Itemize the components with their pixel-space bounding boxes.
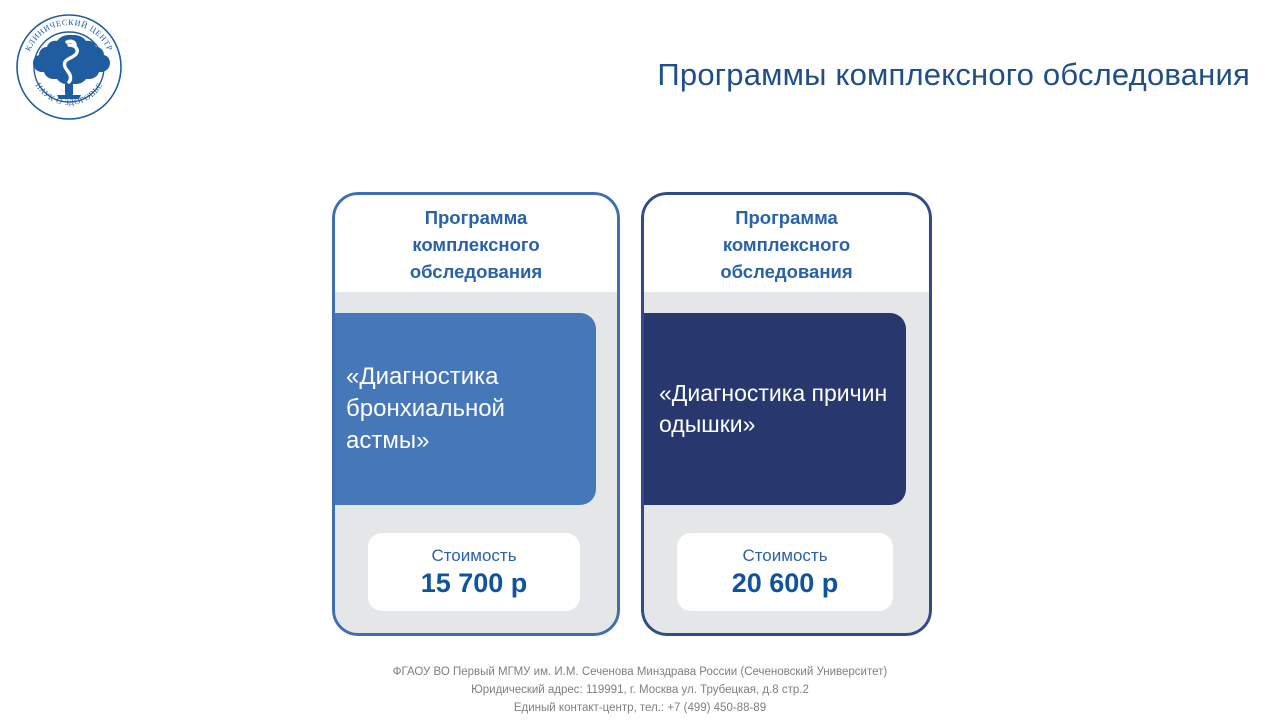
program-name-text: «Диагностика бронхиальной астмы» (346, 361, 582, 457)
price-box: Стоимость 15 700 р (368, 533, 580, 611)
price-label: Стоимость (742, 547, 827, 564)
footer: ФГАОУ ВО Первый МГМУ им. И.М. Сеченова М… (0, 664, 1280, 717)
card-body: «Диагностика причин одышки» Стоимость 20… (641, 292, 932, 636)
card-header: Программа комплексного обследования (641, 192, 932, 292)
card-header: Программа комплексного обследования (332, 192, 620, 292)
card-header-text: Программа комплексного обследования (371, 204, 581, 286)
page-title: Программы комплексного обследования (540, 57, 1250, 93)
program-name-box: «Диагностика бронхиальной астмы» (332, 313, 596, 505)
price-value: 15 700 р (421, 570, 528, 597)
program-card-dyspnea[interactable]: «Диагностика причин одышки» Стоимость 20… (641, 192, 932, 636)
footer-line-address: Юридический адрес: 119991, г. Москва ул.… (0, 682, 1280, 700)
organization-logo: КЛИНИЧЕСКИЙ ЦЕНТР НАУК О ЗДОРОВЬЕ (14, 12, 124, 122)
price-box: Стоимость 20 600 р (677, 533, 893, 611)
price-value: 20 600 р (732, 570, 839, 597)
program-card-asthma[interactable]: «Диагностика бронхиальной астмы» Стоимос… (332, 192, 620, 636)
program-name-box: «Диагностика причин одышки» (641, 313, 906, 505)
card-header-text: Программа комплексного обследования (682, 204, 892, 286)
footer-line-organization: ФГАОУ ВО Первый МГМУ им. И.М. Сеченова М… (0, 664, 1280, 682)
card-body: «Диагностика бронхиальной астмы» Стоимос… (332, 292, 620, 636)
program-name-text: «Диагностика причин одышки» (659, 378, 892, 439)
footer-line-contact: Единый контакт-центр, тел.: +7 (499) 450… (0, 700, 1280, 718)
logo-svg: КЛИНИЧЕСКИЙ ЦЕНТР НАУК О ЗДОРОВЬЕ (14, 12, 124, 122)
price-label: Стоимость (431, 547, 516, 564)
